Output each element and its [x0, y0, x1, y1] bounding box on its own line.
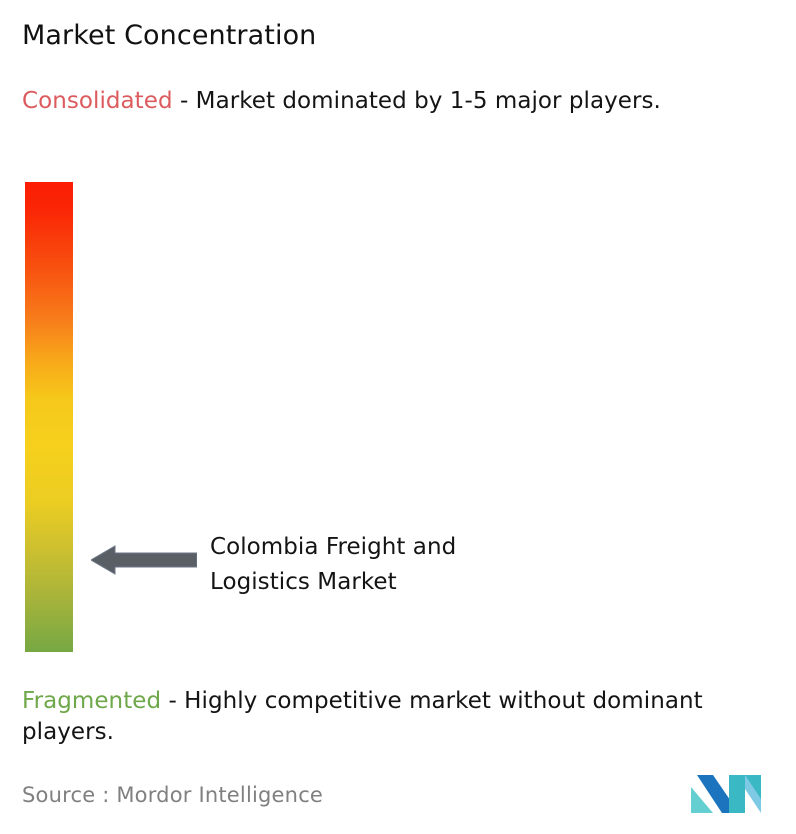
legend-description-consolidated: - Market dominated by 1-5 major players. — [173, 88, 661, 114]
callout-line-2: Logistics Market — [210, 565, 570, 600]
callout-line-1: Colombia Freight and — [210, 530, 570, 565]
legend-fragmented: Fragmented - Highly competitive market w… — [22, 686, 788, 748]
mordor-intelligence-logo-icon — [691, 769, 775, 817]
callout-market-label: Colombia Freight and Logistics Market — [210, 530, 570, 600]
legend-term-fragmented: Fragmented — [22, 688, 161, 714]
left-arrow-icon — [91, 543, 197, 577]
concentration-gradient-scale — [25, 182, 73, 652]
market-concentration-infographic: Market Concentration Consolidated - Mark… — [0, 0, 796, 834]
source-attribution: Source : Mordor Intelligence — [22, 783, 323, 807]
legend-consolidated: Consolidated - Market dominated by 1-5 m… — [22, 86, 782, 117]
page-title: Market Concentration — [22, 20, 316, 52]
legend-term-consolidated: Consolidated — [22, 88, 173, 114]
